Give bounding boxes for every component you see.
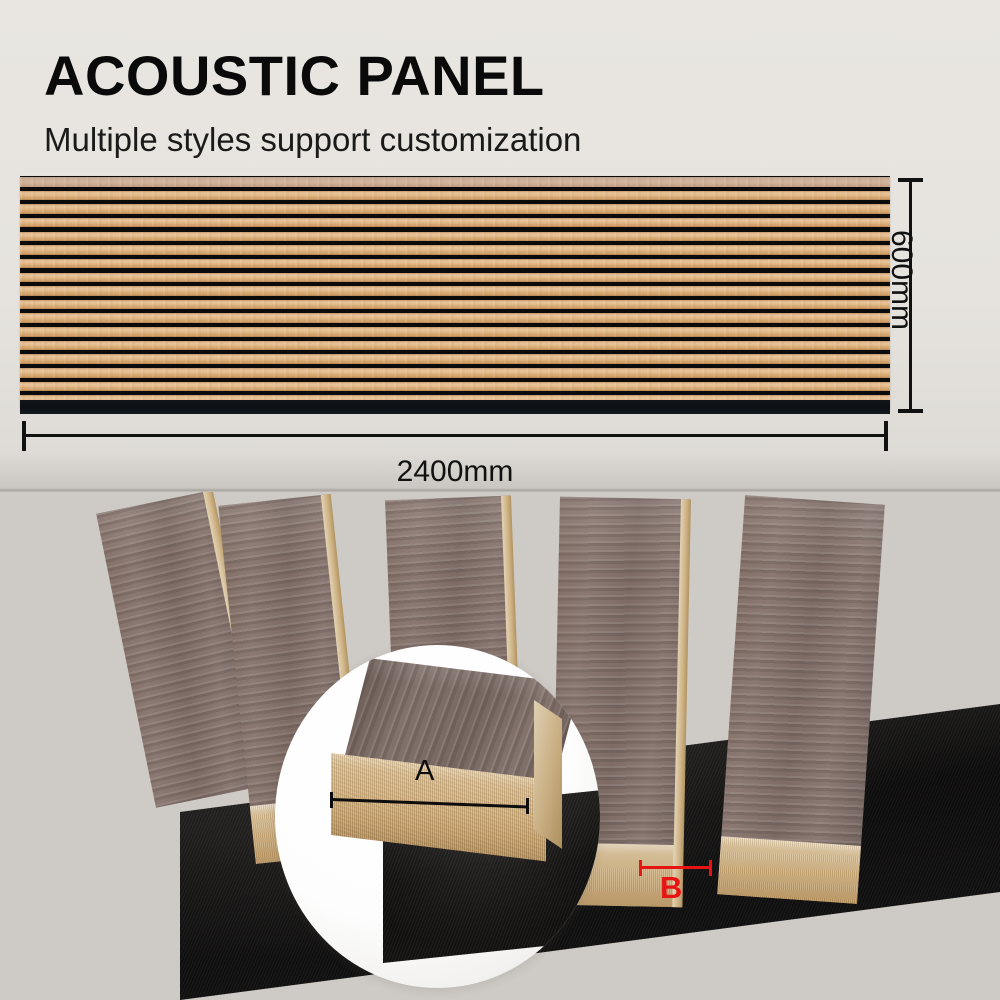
slat — [20, 232, 890, 242]
magnifier-inset — [275, 645, 600, 988]
photo-slat — [717, 495, 885, 904]
width-dimension-label: 2400mm — [0, 455, 910, 489]
slat-mdf-core — [717, 836, 861, 904]
dimension-cap-right — [709, 860, 712, 876]
slat — [20, 191, 890, 201]
slat — [20, 341, 890, 351]
magnifier-slat-side — [534, 700, 562, 849]
page-title: ACOUSTIC PANEL — [44, 48, 545, 104]
slat — [20, 368, 890, 378]
bottom-material-section: HIGH-QUALITY MATERIAL A Wood strip width… — [0, 492, 1000, 1000]
slat — [20, 354, 890, 364]
dimension-cap-right — [526, 798, 529, 814]
slat — [20, 218, 890, 228]
callout-a-dimension-line — [330, 785, 530, 815]
dimension-shaft — [641, 866, 711, 869]
top-product-section: ACOUSTIC PANEL Multiple styles support c… — [0, 0, 1000, 492]
slat — [20, 313, 890, 323]
callout-b-label: B — [660, 872, 682, 903]
page-subtitle: Multiple styles support customization — [44, 123, 581, 156]
slat — [20, 259, 890, 269]
slat — [20, 177, 890, 187]
slat — [20, 300, 890, 310]
dimension-shaft — [332, 798, 528, 809]
panel-felt-backing — [20, 400, 890, 414]
dimension-cap-bottom — [898, 409, 923, 413]
slat-stack — [20, 176, 890, 408]
height-dimension-label: 600mm — [884, 230, 918, 330]
slat — [20, 204, 890, 214]
width-dimension-line — [20, 421, 890, 451]
slat — [20, 382, 890, 392]
slat — [20, 273, 890, 283]
dimension-cap-right — [884, 421, 888, 451]
slat — [20, 286, 890, 296]
dimension-shaft — [24, 434, 886, 437]
slat-panel-illustration — [20, 176, 890, 416]
slat — [20, 245, 890, 255]
callout-a-label: A — [415, 757, 434, 786]
slat — [20, 327, 890, 337]
